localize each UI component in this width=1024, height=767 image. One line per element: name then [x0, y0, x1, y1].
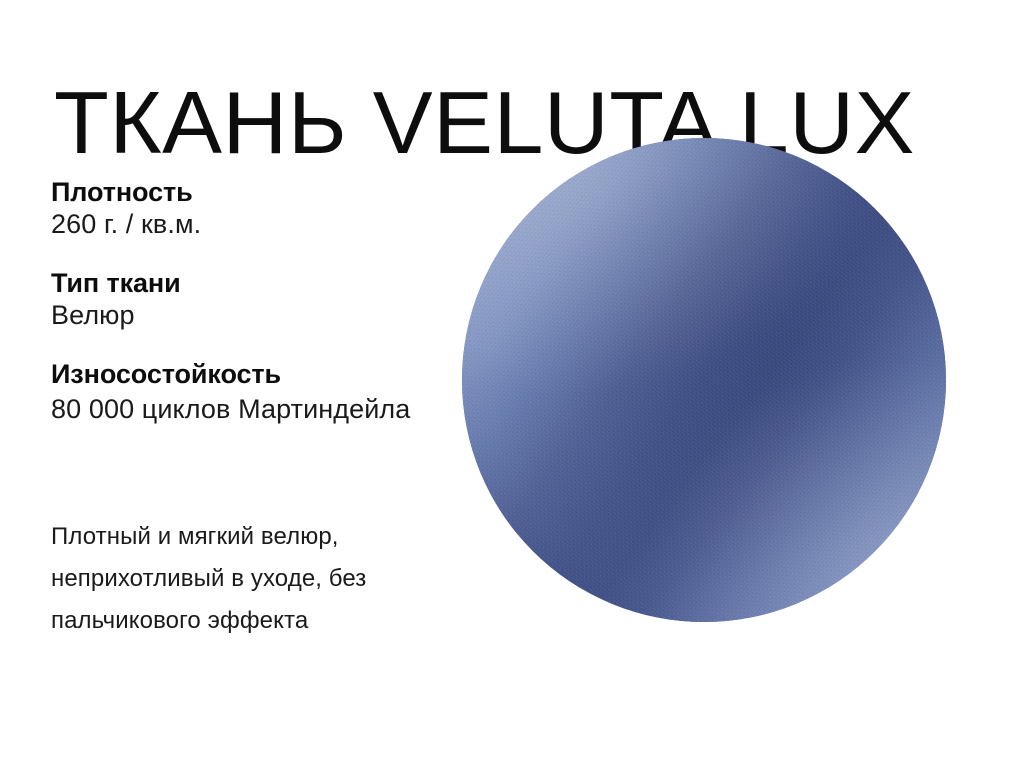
- spec-label-density: Плотность: [51, 176, 451, 208]
- spec-value-durability: 80 000 циклов Мартиндейла: [51, 390, 451, 428]
- spec-label-durability: Износостойкость: [51, 358, 451, 390]
- fabric-swatch-image: [462, 138, 946, 622]
- spec-value-fabric-type: Велюр: [51, 299, 451, 332]
- spec-item-density: Плотность 260 г. / кв.м.: [51, 176, 451, 241]
- spec-item-fabric-type: Тип ткани Велюр: [51, 267, 451, 332]
- fabric-vignette: [462, 138, 946, 622]
- spec-item-durability: Износостойкость 80 000 циклов Мартиндейл…: [51, 358, 451, 428]
- specifications-list: Плотность 260 г. / кв.м. Тип ткани Велюр…: [51, 176, 451, 428]
- spec-label-fabric-type: Тип ткани: [51, 267, 451, 299]
- spec-value-density: 260 г. / кв.м.: [51, 208, 451, 241]
- fabric-description: Плотный и мягкий велюр, неприхотливый в …: [51, 516, 481, 642]
- slide-canvas: ТКАНЬ VELUTA LUX Плотность 260 г. / кв.м…: [0, 0, 1024, 767]
